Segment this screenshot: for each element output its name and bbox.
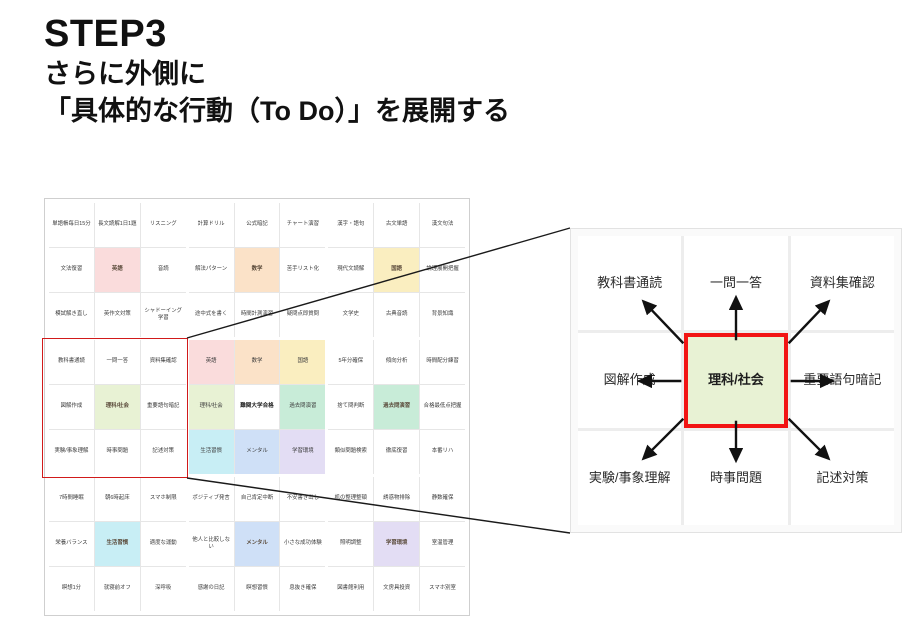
mandala-cell[interactable]: 他人と比較しない — [189, 522, 234, 566]
mandala-cell[interactable]: 文法復習 — [49, 248, 94, 292]
mandala-cell[interactable]: 漢字・語句 — [328, 203, 373, 247]
mandala-cell[interactable]: 古典音読 — [374, 293, 419, 337]
detail-cell[interactable]: 図解作成 — [578, 333, 681, 427]
subtitle-line-1: さらに外側に — [44, 57, 864, 92]
mandala-cell[interactable]: 漢文句法 — [420, 203, 465, 247]
detail-cell[interactable]: 時事問題 — [684, 431, 787, 525]
mandala-cell[interactable]: スマホ別室 — [420, 567, 465, 611]
mandala-cell[interactable]: 現代文読解 — [328, 248, 373, 292]
mandala-center-cell[interactable]: 理科/社会 — [95, 385, 140, 429]
mandala-center-cell[interactable]: メンタル — [235, 522, 280, 566]
mandala-cell[interactable]: 7時間睡眠 — [49, 477, 94, 521]
mandala-cell[interactable]: 文学史 — [328, 293, 373, 337]
mandala-cell[interactable]: 解法パターン — [189, 248, 234, 292]
mandala-cell[interactable]: 朝6時起床 — [95, 477, 140, 521]
mandala-cell[interactable]: チャート演習 — [280, 203, 325, 247]
mandala-cell[interactable]: 不安書き出し — [280, 477, 325, 521]
detail-cell[interactable]: 資料集確認 — [791, 236, 894, 330]
mandala-block-study-environment: 机の整理整頓誘惑物排除静数確保照明調整学習環境室温管理図書館利用文房具投資スマホ… — [328, 477, 465, 611]
mandala-grid: 単語帳毎日15分長文読解1日1題リスニング文法復習英語音読模試解き直し英作文対策… — [49, 203, 465, 611]
mandala-cell[interactable]: 理科/社会 — [189, 385, 234, 429]
mandala-cell[interactable]: 重要語句暗記 — [141, 385, 186, 429]
mandala-cell[interactable]: 誘惑物排除 — [374, 477, 419, 521]
mandala-center-cell[interactable]: 過去問演習 — [374, 385, 419, 429]
mandala-cell[interactable]: 記述対策 — [141, 430, 186, 474]
mandala-cell[interactable]: 小さな成功体験 — [280, 522, 325, 566]
mandala-cell[interactable]: 時事問題 — [95, 430, 140, 474]
mandala-cell[interactable]: 本番リハ — [420, 430, 465, 474]
detail-grid: 教科書通読一問一答資料集確認図解作成理科/社会重要語句暗記実験/事象理解時事問題… — [578, 236, 894, 525]
mandala-cell[interactable]: メンタル — [235, 430, 280, 474]
mandala-block-core-goal: 英語数学国語理科/社会難関大学合格過去問演習生活習慣メンタル学習環境 — [189, 340, 326, 474]
mandala-block-math: 計算ドリル公式暗記チャート演習解法パターン数学苦手リスト化途中式を書く時間計測演… — [189, 203, 326, 337]
mandala-cell[interactable]: 国語 — [280, 340, 325, 384]
mandala-block-science-social: 教科書通読一問一答資料集確認図解作成理科/社会重要語句暗記実験/事象理解時事問題… — [49, 340, 186, 474]
detail-cell[interactable]: 一問一答 — [684, 236, 787, 330]
mandala-cell[interactable]: シャドーイング学習 — [141, 293, 186, 337]
mandala-block-japanese: 漢字・語句古文単語漢文句法現代文読解国語論理展開把握文学史古典音読背景知識 — [328, 203, 465, 337]
detail-cell[interactable]: 教科書通読 — [578, 236, 681, 330]
mandala-cell[interactable]: 照明調整 — [328, 522, 373, 566]
mandala-cell[interactable]: 栄養バランス — [49, 522, 94, 566]
mandala-chart-panel: 単語帳毎日15分長文読解1日1題リスニング文法復習英語音読模試解き直し英作文対策… — [44, 198, 470, 616]
mandala-center-cell[interactable]: 数学 — [235, 248, 280, 292]
mandala-cell[interactable]: 机の整理整頓 — [328, 477, 373, 521]
mandala-cell[interactable]: 文房具投資 — [374, 567, 419, 611]
mandala-cell[interactable]: 学習環境 — [280, 430, 325, 474]
mandala-block-english: 単語帳毎日15分長文読解1日1題リスニング文法復習英語音読模試解き直し英作文対策… — [49, 203, 186, 337]
mandala-cell[interactable]: 苦手リスト化 — [280, 248, 325, 292]
detail-cell[interactable]: 記述対策 — [791, 431, 894, 525]
mandala-cell[interactable]: 徹底復習 — [374, 430, 419, 474]
step-label: STEP3 — [44, 14, 864, 55]
mandala-cell[interactable]: 瞑想習慣 — [235, 567, 280, 611]
mandala-cell[interactable]: 資料集確認 — [141, 340, 186, 384]
page-title: STEP3 さらに外側に 「具体的な行動（To Do）」を展開する — [44, 14, 864, 129]
mandala-cell[interactable]: 適度な運動 — [141, 522, 186, 566]
mandala-cell[interactable]: 5年分確保 — [328, 340, 373, 384]
mandala-cell[interactable]: 就寝前オフ — [95, 567, 140, 611]
mandala-cell[interactable]: 古文単語 — [374, 203, 419, 247]
mandala-cell[interactable]: 時間配分練習 — [420, 340, 465, 384]
slide-root: STEP3 さらに外側に 「具体的な行動（To Do）」を展開する 単語帳毎日1… — [0, 0, 916, 630]
mandala-cell[interactable]: ポジティブ発言 — [189, 477, 234, 521]
mandala-cell[interactable]: 生活習慣 — [189, 430, 234, 474]
mandala-cell[interactable]: 途中式を書く — [189, 293, 234, 337]
mandala-cell[interactable]: 時間計測演習 — [235, 293, 280, 337]
detail-cell[interactable]: 実験/事象理解 — [578, 431, 681, 525]
mandala-cell[interactable]: 図解作成 — [49, 385, 94, 429]
mandala-cell[interactable]: 背景知識 — [420, 293, 465, 337]
mandala-cell[interactable]: 一問一答 — [95, 340, 140, 384]
mandala-cell[interactable]: 感謝の日記 — [189, 567, 234, 611]
mandala-cell[interactable]: 計算ドリル — [189, 203, 234, 247]
mandala-cell[interactable]: 合格最低点把握 — [420, 385, 465, 429]
mandala-cell[interactable]: 静数確保 — [420, 477, 465, 521]
mandala-cell[interactable]: 図書館利用 — [328, 567, 373, 611]
mandala-cell[interactable]: 過去問演習 — [280, 385, 325, 429]
mandala-cell[interactable]: 英語 — [189, 340, 234, 384]
mandala-cell[interactable]: 自己肯定中断 — [235, 477, 280, 521]
mandala-cell[interactable]: 模試解き直し — [49, 293, 94, 337]
mandala-cell[interactable]: 英作文対策 — [95, 293, 140, 337]
mandala-cell[interactable]: スマホ制限 — [141, 477, 186, 521]
subtitle-line-2: 「具体的な行動（To Do）」を展開する — [44, 94, 864, 129]
mandala-cell[interactable]: 論理展開把握 — [420, 248, 465, 292]
mandala-cell[interactable]: 傾向分析 — [374, 340, 419, 384]
mandala-cell[interactable]: 捨て問判断 — [328, 385, 373, 429]
mandala-cell[interactable]: 長文読解1日1題 — [95, 203, 140, 247]
mandala-cell[interactable]: リスニング — [141, 203, 186, 247]
mandala-cell[interactable]: 深呼吸 — [141, 567, 186, 611]
mandala-center-cell[interactable]: 国語 — [374, 248, 419, 292]
mandala-center-cell[interactable]: 生活習慣 — [95, 522, 140, 566]
mandala-cell[interactable]: 実験/事象理解 — [49, 430, 94, 474]
mandala-cell[interactable]: 息抜き確保 — [280, 567, 325, 611]
mandala-cell[interactable]: 音読 — [141, 248, 186, 292]
mandala-center-cell[interactable]: 英語 — [95, 248, 140, 292]
mandala-cell[interactable]: 疑問点即質問 — [280, 293, 325, 337]
mandala-block-mental: ポジティブ発言自己肯定中断不安書き出し他人と比較しないメンタル小さな成功体験感謝… — [189, 477, 326, 611]
detail-zoom-panel: 教科書通読一問一答資料集確認図解作成理科/社会重要語句暗記実験/事象理解時事問題… — [570, 228, 902, 533]
mandala-cell[interactable]: 室温管理 — [420, 522, 465, 566]
mandala-cell[interactable]: 数学 — [235, 340, 280, 384]
mandala-block-lifestyle: 7時間睡眠朝6時起床スマホ制限栄養バランス生活習慣適度な運動瞑想1分就寝前オフ深… — [49, 477, 186, 611]
mandala-center-cell[interactable]: 学習環境 — [374, 522, 419, 566]
mandala-cell[interactable]: 公式暗記 — [235, 203, 280, 247]
mandala-cell[interactable]: 教科書通読 — [49, 340, 94, 384]
mandala-block-past-exam: 5年分確保傾向分析時間配分練習捨て問判断過去問演習合格最低点把握類似問題検索徹底… — [328, 340, 465, 474]
detail-cell[interactable]: 重要語句暗記 — [791, 333, 894, 427]
mandala-cell[interactable]: 類似問題検索 — [328, 430, 373, 474]
mandala-cell[interactable]: 単語帳毎日15分 — [49, 203, 94, 247]
mandala-cell[interactable]: 瞑想1分 — [49, 567, 94, 611]
mandala-center-cell[interactable]: 難関大学合格 — [235, 385, 280, 429]
detail-center-cell[interactable]: 理科/社会 — [684, 333, 787, 427]
